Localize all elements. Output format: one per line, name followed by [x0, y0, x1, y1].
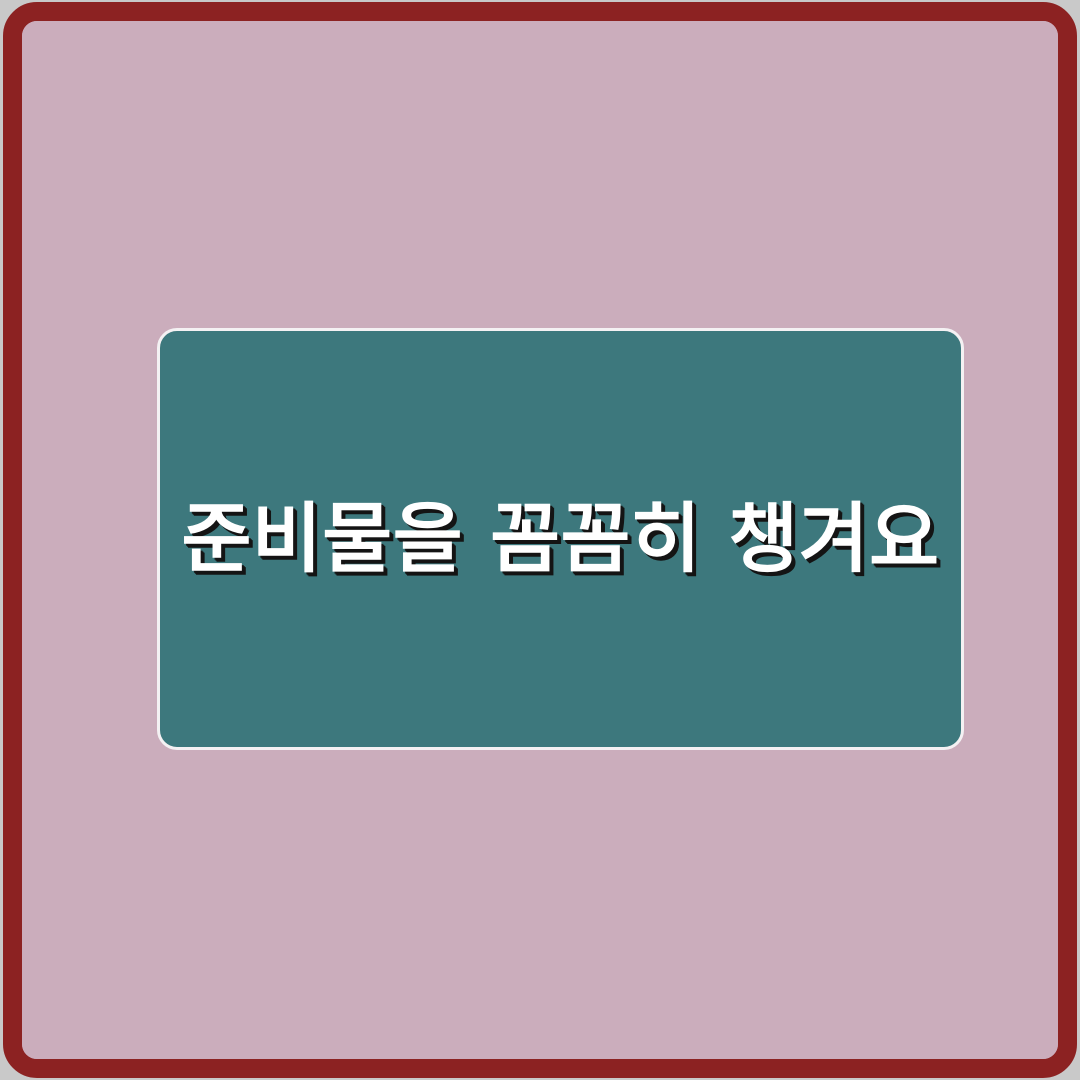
decorative-frame: 준비물을 꼼꼼히 챙겨요 [3, 2, 1077, 1078]
card-title-text: 준비물을 꼼꼼히 챙겨요 [160, 494, 961, 584]
page-root: 준비물을 꼼꼼히 챙겨요 [0, 0, 1080, 1080]
canvas-background: 준비물을 꼼꼼히 챙겨요 [22, 21, 1058, 1059]
message-card: 준비물을 꼼꼼히 챙겨요 [157, 328, 964, 750]
